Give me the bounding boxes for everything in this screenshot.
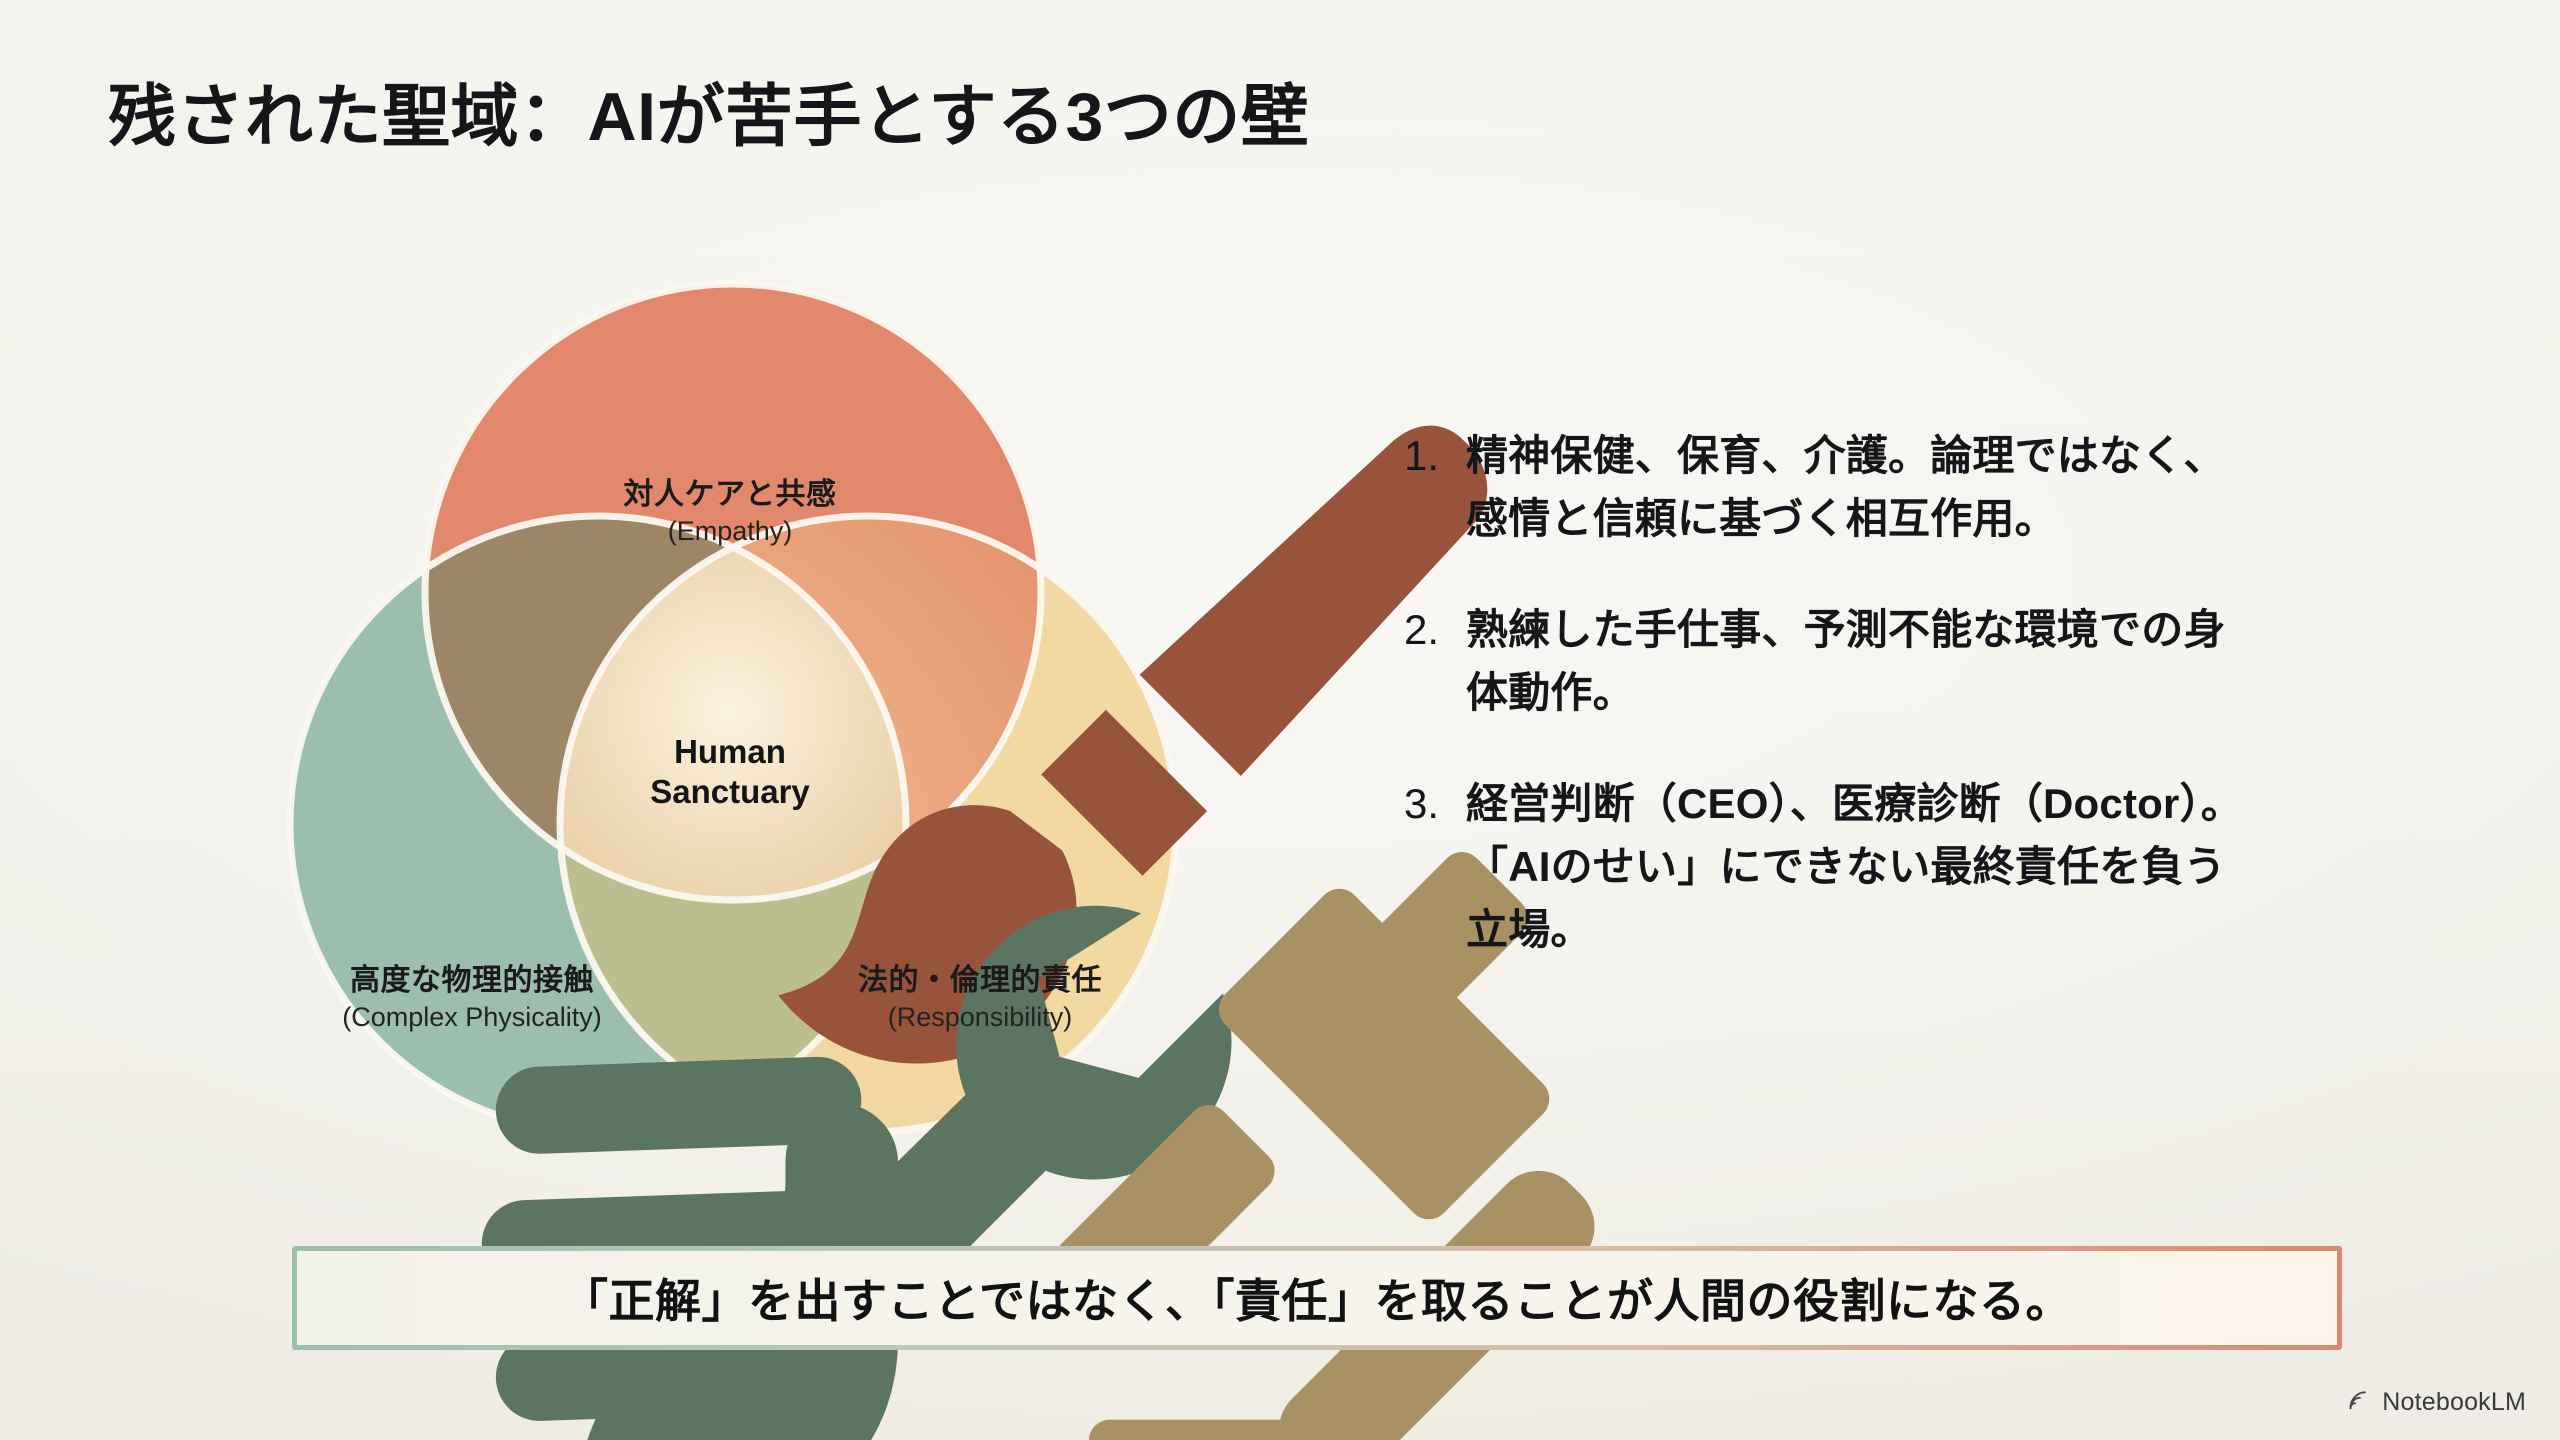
- list-item-text: 熟練した手仕事、予測不能な環境での身 体動作。: [1466, 598, 2404, 724]
- list-item-line: 体動作。: [1466, 661, 2404, 724]
- notebooklm-brand: NotebookLM: [2347, 1387, 2526, 1418]
- list-item-line: 精神保健、保育、介護。論理ではなく、: [1466, 424, 2404, 487]
- venn-diagram: 対人ケアと共感 (Empathy) 高度な物理的接触 (Complex Phys…: [280, 262, 1180, 1162]
- list-item-line: 「AIのせい」にできない最終責任を負う: [1466, 835, 2404, 898]
- venn-diagram-svg: [280, 262, 1180, 1162]
- callout-box: 「正解」を出すことではなく、「責任」を取ることが人間の役割になる。: [292, 1246, 2342, 1350]
- key-points-list: 1. 精神保健、保育、介護。論理ではなく、 感情と信頼に基づく相互作用。 2. …: [1404, 424, 2404, 1009]
- list-item: 1. 精神保健、保育、介護。論理ではなく、 感情と信頼に基づく相互作用。: [1404, 424, 2404, 550]
- callout-text: 「正解」を出すことではなく、「責任」を取ることが人間の役割になる。: [562, 1265, 2072, 1331]
- list-item: 2. 熟練した手仕事、予測不能な環境での身 体動作。: [1404, 598, 2404, 724]
- list-item-number: 3.: [1404, 772, 1466, 835]
- list-item-number: 1.: [1404, 424, 1466, 487]
- callout-box-inner: 「正解」を出すことではなく、「責任」を取ることが人間の役割になる。: [297, 1251, 2337, 1345]
- notebooklm-brand-name: NotebookLM: [2382, 1388, 2526, 1417]
- list-item-text: 精神保健、保育、介護。論理ではなく、 感情と信頼に基づく相互作用。: [1466, 424, 2404, 550]
- list-item-line: 立場。: [1466, 898, 2404, 961]
- slide-title: 残された聖域：AIが苦手とする3つの壁: [108, 78, 1309, 156]
- list-item-line: 感情と信頼に基づく相互作用。: [1466, 487, 2404, 550]
- list-item: 3. 経営判断（CEO）、医療診断（Doctor）。 「AIのせい」にできない最…: [1404, 772, 2404, 961]
- list-item-line: 経営判断（CEO）、医療診断（Doctor）。: [1466, 772, 2404, 835]
- notebooklm-spiral-icon: [2347, 1387, 2373, 1418]
- slide-canvas: 残された聖域：AIが苦手とする3つの壁: [0, 0, 2560, 1440]
- list-item-line: 熟練した手仕事、予測不能な環境での身: [1466, 598, 2404, 661]
- list-item-number: 2.: [1404, 598, 1466, 661]
- list-item-text: 経営判断（CEO）、医療診断（Doctor）。 「AIのせい」にできない最終責任…: [1466, 772, 2404, 961]
